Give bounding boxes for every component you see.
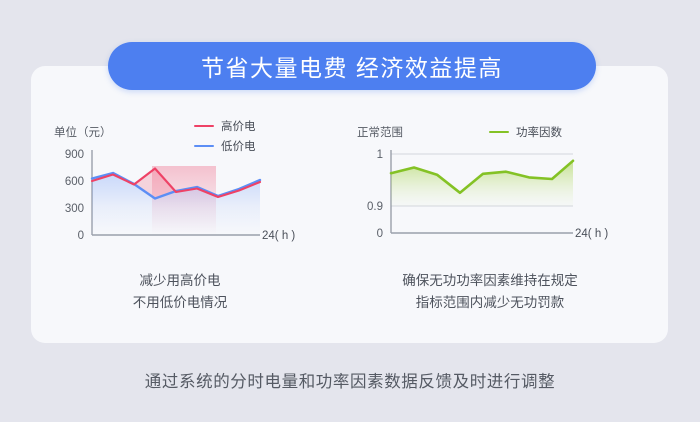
right-caption-line-2: 指标范围内减少无功罚款 (345, 292, 635, 314)
left-caption-line-2: 不用低价电情况 (40, 292, 320, 314)
right-ytick-0: 0 (377, 228, 383, 240)
left-ytick-600: 600 (65, 176, 84, 188)
left-chart-unit-label: 单位（元） (54, 124, 112, 140)
legend-swatch-low-price (194, 145, 214, 148)
legend-swatch-high-price (194, 125, 214, 128)
right-xaxis-label: 24( h ) (575, 228, 608, 240)
legend-item-high-price: 高价电 (194, 118, 256, 134)
right-ytick-1: 1 (377, 149, 383, 161)
left-chart-plot: 900 600 300 0 24( h ) (46, 148, 326, 250)
left-ytick-0: 0 (78, 230, 84, 242)
headline-text: 节省大量电费 经济效益提高 (201, 49, 503, 83)
footer-summary-text: 通过系统的分时电量和功率因素数据反馈及时进行调整 (0, 368, 700, 392)
legend-swatch-power-factor (489, 131, 509, 134)
left-xaxis-label: 24( h ) (262, 230, 295, 242)
right-chart-plot: 1 0.9 0 24( h ) (343, 148, 633, 250)
content-card: 单位（元） 高价电 低价电 (31, 66, 668, 343)
right-caption-line-1: 确保无功功率因素维持在规定 (345, 270, 635, 292)
headline-banner: 节省大量电费 经济效益提高 (108, 42, 596, 90)
right-chart-legend: 功率因数 (489, 124, 562, 140)
left-caption-line-1: 减少用高价电 (40, 270, 320, 292)
legend-label-high-price: 高价电 (221, 118, 256, 134)
legend-item-power-factor: 功率因数 (489, 124, 562, 140)
right-chart-range-label: 正常范围 (357, 124, 403, 140)
left-panel-caption: 减少用高价电 不用低价电情况 (40, 270, 320, 315)
left-ytick-900: 900 (65, 149, 84, 161)
right-ytick-0-9: 0.9 (367, 201, 383, 213)
legend-label-power-factor: 功率因数 (516, 124, 562, 140)
left-ytick-300: 300 (65, 203, 84, 215)
right-panel-caption: 确保无功功率因素维持在规定 指标范围内减少无功罚款 (345, 270, 635, 315)
